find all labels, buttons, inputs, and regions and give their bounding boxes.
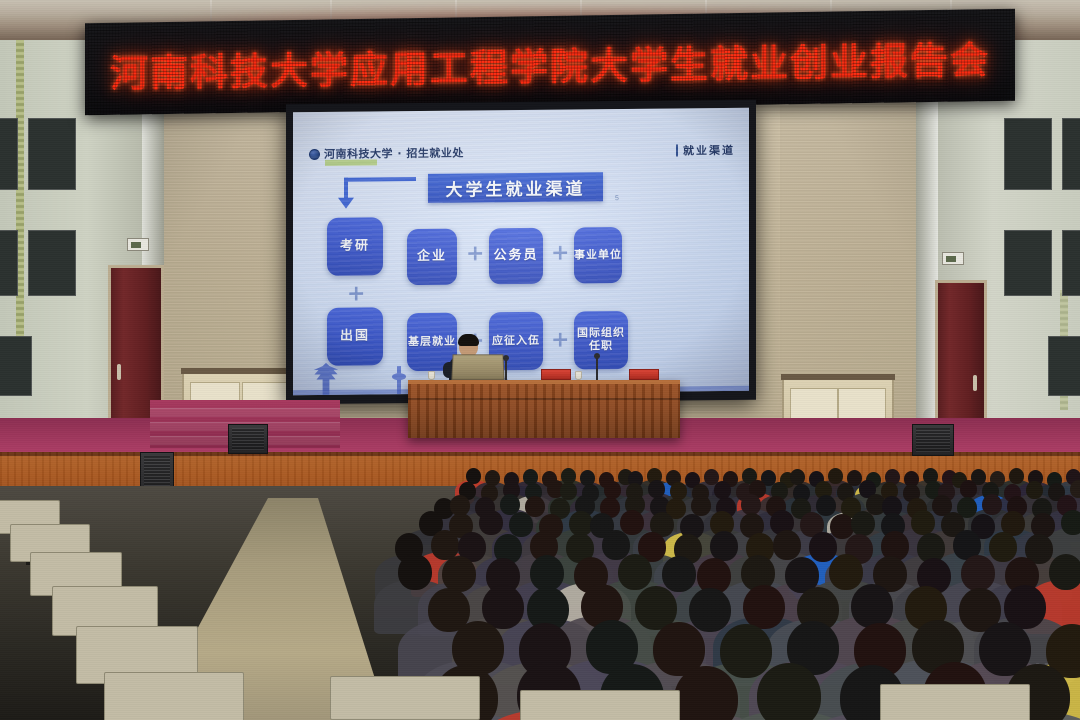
stage-monitor-right <box>912 424 954 456</box>
audience-head <box>911 510 935 535</box>
name-placard-left <box>541 369 571 380</box>
slide-section-label: 就业渠道 <box>683 142 735 158</box>
door-handle <box>973 375 977 391</box>
audience-head <box>689 588 731 632</box>
name-placard-right <box>629 369 659 380</box>
slide-title-text: 大学生就业渠道 <box>446 174 586 200</box>
acoustic-panel <box>1062 118 1080 190</box>
audience-head <box>743 585 785 629</box>
audience-head <box>982 494 1002 515</box>
channel-box-row1-lead: 考研 <box>327 217 383 276</box>
led-banner: 河南科技大学应用工程学院大学生就业创业报告会 <box>85 9 1015 116</box>
presenter-hair <box>458 334 479 346</box>
acoustic-panel <box>28 118 76 190</box>
audience-head <box>809 532 837 562</box>
audience-head <box>1061 510 1080 535</box>
audience-head <box>961 555 995 591</box>
audience-head <box>530 555 564 591</box>
audience-head <box>442 556 476 592</box>
audience-head <box>851 511 875 536</box>
head-table <box>408 380 680 438</box>
elbow-arrow-down-icon <box>336 177 416 210</box>
audience-head <box>790 469 805 485</box>
open-laptop <box>451 354 504 380</box>
auditorium-photo: 河南科技大学应用工程学院大学生就业创业报告会 河南科技大学 · 招生就业处 就业… <box>0 0 1080 720</box>
microphone-icon <box>596 358 598 380</box>
seat-back <box>330 676 480 720</box>
microphone-icon <box>505 360 507 380</box>
plus-icon: + <box>551 330 569 352</box>
acoustic-panel <box>0 336 32 396</box>
audience-head <box>1009 468 1024 484</box>
acoustic-panel <box>1062 230 1080 296</box>
projection-screen: 河南科技大学 · 招生就业处 就业渠道 大学生就业渠道 5 考研 企业 <box>293 108 749 395</box>
slide-section: 就业渠道 <box>676 142 735 159</box>
audience-head <box>720 624 772 678</box>
seat-back <box>104 672 244 720</box>
audience-head <box>710 531 738 561</box>
emergency-light-icon <box>127 238 149 251</box>
plus-icon: + <box>466 243 484 265</box>
projection-screen-frame: 河南科技大学 · 招生就业处 就业渠道 大学生就业渠道 5 考研 企业 <box>286 100 756 405</box>
channel-box-row1-item-1: 公务员 <box>489 228 543 285</box>
university-seal-icon <box>309 148 320 159</box>
audience-head <box>960 480 977 498</box>
audience-head <box>757 663 821 720</box>
slide-page-tick: 5 <box>615 195 619 202</box>
audience-head <box>620 510 644 535</box>
seat-back <box>880 684 1030 720</box>
water-cup <box>428 371 435 380</box>
plus-icon: + <box>551 243 569 265</box>
brand-highlight <box>325 159 377 165</box>
audience-head <box>989 532 1017 562</box>
audience-head <box>851 584 893 628</box>
channel-box-row1-item-0: 企业 <box>407 229 457 285</box>
audience-head <box>829 554 863 590</box>
audience-head <box>1026 481 1043 499</box>
audience-head <box>816 495 836 516</box>
audience-head <box>773 530 801 560</box>
audience-head <box>741 494 761 515</box>
door-handle <box>117 364 121 380</box>
banner-text: 河南科技大学应用工程学院大学生就业创业报告会 <box>110 29 990 98</box>
emergency-light-icon <box>942 252 964 265</box>
audience-head <box>1049 554 1080 590</box>
acoustic-panel <box>1048 336 1080 396</box>
audience-head <box>828 468 843 484</box>
stage-monitor-left <box>228 424 268 454</box>
acoustic-panel <box>0 230 18 296</box>
acoustic-panel <box>1004 118 1052 190</box>
seat-back <box>520 690 680 720</box>
slide-brand: 河南科技大学 · 招生就业处 <box>309 145 464 162</box>
audience-head <box>662 556 696 592</box>
cabinet-top <box>781 374 895 380</box>
audience-head <box>398 554 432 590</box>
water-cup <box>575 371 582 380</box>
section-divider <box>676 144 678 156</box>
table-skirt <box>408 384 680 438</box>
audience-head <box>509 512 533 537</box>
channel-box-row1-item-2: 事业单位 <box>574 227 622 283</box>
cabinet-top <box>181 368 301 374</box>
audience-head <box>691 495 711 516</box>
acoustic-panel <box>1004 230 1052 296</box>
acoustic-panel <box>28 230 76 296</box>
audience-head <box>479 510 503 535</box>
plus-icon: + <box>347 283 365 305</box>
table-seam <box>408 398 680 400</box>
audience-head <box>618 554 652 590</box>
acoustic-panel <box>0 118 18 190</box>
slide-header: 河南科技大学 · 招生就业处 就业渠道 <box>309 141 735 163</box>
slide-title-band: 大学生就业渠道 <box>428 172 603 203</box>
